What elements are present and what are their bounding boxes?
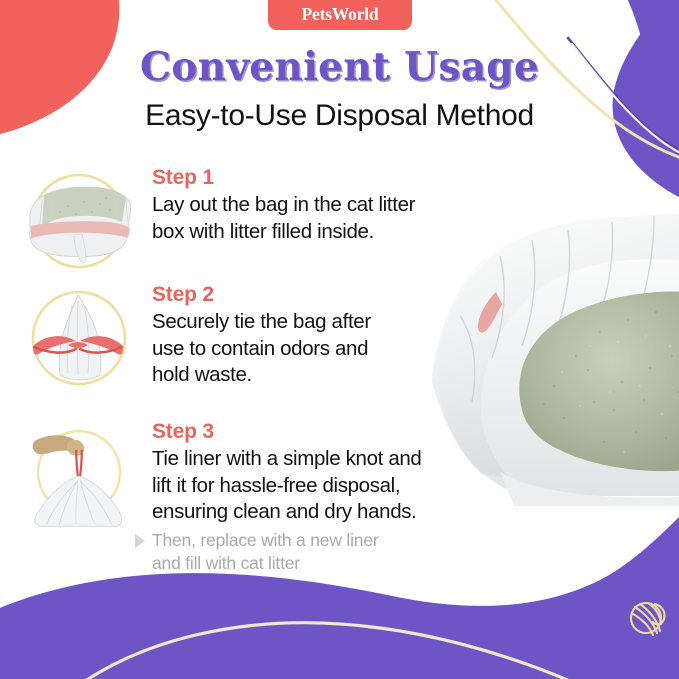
- step-body: Step 1 Lay out the bag in the cat litter…: [152, 166, 472, 245]
- step-label: Step 3: [152, 420, 482, 444]
- page-title: Convenient Usage: [0, 44, 679, 90]
- page-subtitle: Easy-to-Use Disposal Method: [0, 99, 679, 133]
- yarn-ball-icon: [626, 594, 668, 640]
- tied-bag-with-ribbon-icon: [18, 283, 140, 393]
- brand-name: PetsWorld: [302, 3, 379, 24]
- hand-lifting-bag-icon: [18, 420, 140, 530]
- step-note-wrap: Then, replace with a new liner and fill …: [152, 529, 482, 575]
- step-description: Securely tie the bag after use to contai…: [152, 309, 472, 389]
- step-label: Step 2: [152, 283, 472, 307]
- infographic-poster: PetsWorld Convenient Usage Easy-to-Use D…: [0, 0, 679, 679]
- step-body: Step 3 Tie liner with a simple knot and …: [152, 420, 482, 575]
- brand-badge: PetsWorld: [268, 0, 412, 30]
- step-body: Step 2 Securely tie the bag after use to…: [152, 283, 472, 389]
- step-note: Then, replace with a new liner and fill …: [152, 529, 482, 575]
- step-description: Tie liner with a simple knot and lift it…: [152, 446, 482, 526]
- chevron-right-icon: [134, 533, 148, 549]
- cream-arc-line-icon: [60, 623, 630, 679]
- litter-box-with-liner-icon: [18, 166, 140, 276]
- step-description: Lay out the bag in the cat litter box wi…: [152, 192, 472, 245]
- step-label: Step 1: [152, 166, 472, 190]
